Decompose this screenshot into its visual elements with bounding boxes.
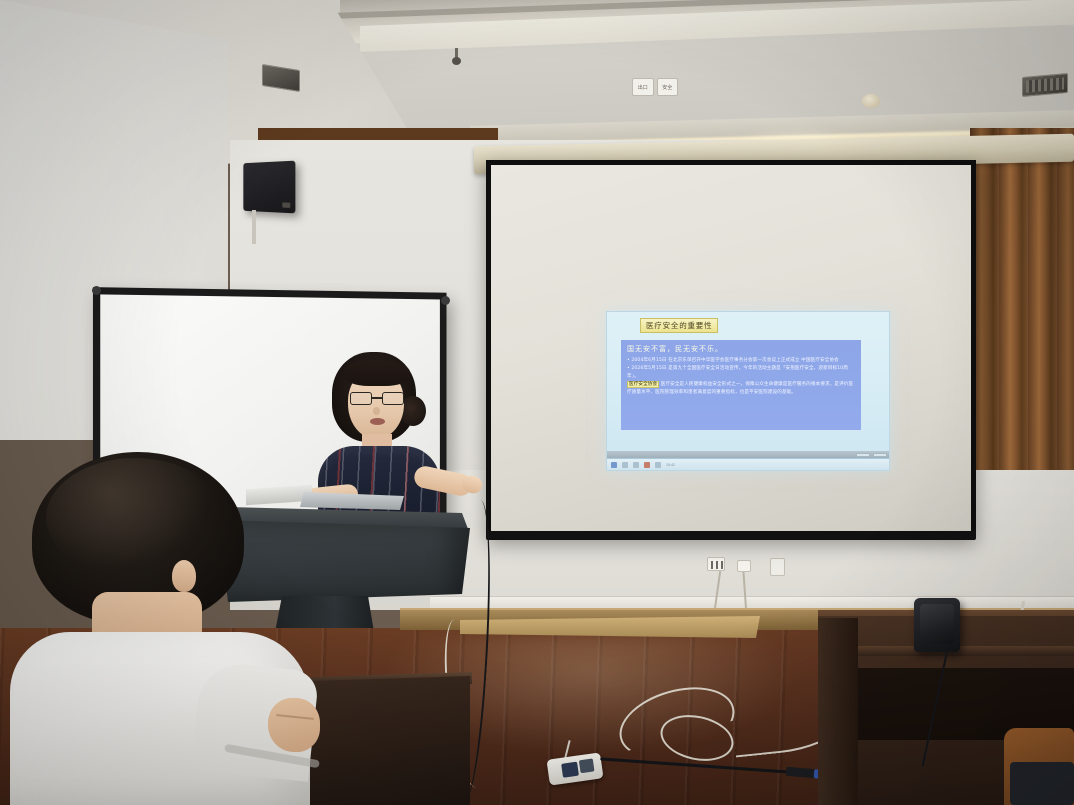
chair-seat[interactable] [1010, 762, 1074, 805]
desk-speaker-icon [914, 598, 960, 652]
slide-status-bar [607, 451, 890, 458]
student-hair-highlight [46, 458, 224, 578]
slide-bullet: • 2026年5月15日 是第九个全国医疗安全日活动宣传，今年的活动主题是「安抱… [627, 365, 855, 381]
ceiling-vent-right-icon [1022, 73, 1068, 97]
exit-sign-label: 出口 [632, 78, 654, 96]
status-cell [873, 453, 887, 457]
taskbar-clock: 15:42 [666, 463, 675, 467]
sprinkler-icon [452, 48, 461, 66]
audience-member [10, 452, 340, 805]
start-button-icon[interactable] [611, 462, 617, 468]
explorer-icon[interactable] [622, 462, 628, 468]
slide-title: 医疗安全的重要性 [640, 318, 718, 333]
wall-speaker-icon [243, 161, 295, 214]
presenter-nose [373, 407, 380, 415]
student-hand [268, 698, 320, 752]
folder-icon[interactable] [655, 462, 661, 468]
glasses-icon [350, 392, 404, 405]
ceiling-signage: 出口 安全 [632, 78, 678, 96]
status-cell [856, 453, 870, 457]
plug-icon-2 [579, 758, 595, 773]
powerpoint-icon[interactable] [644, 462, 650, 468]
slide-highlight: 医疗安全协会 [627, 381, 659, 388]
wall-panel [770, 558, 785, 576]
projected-slide: 医疗安全的重要性 国无安不富，民无安不乐。 • 2004年6月15日 在北京东单… [606, 311, 890, 471]
power-outlet [707, 557, 725, 571]
os-taskbar[interactable]: 15:42 [607, 458, 890, 470]
screen-bottom-weight-bar [486, 531, 976, 540]
slide-heading: 国无安不富，民无安不乐。 [627, 344, 855, 354]
browser-icon[interactable] [633, 462, 639, 468]
lecture-room-photo: 出口 安全 医疗安全的重要性 国无安不富，民无安不乐。 • 2004年6月15日… [0, 0, 1074, 805]
safety-sign-label: 安全 [657, 78, 679, 96]
slide-bullet: • 2004年6月15日 在北京东单召开中华医学会医疗事务分会第一次会议上正式成… [627, 357, 855, 365]
presenter-mouth [370, 418, 385, 425]
plug-icon [561, 762, 579, 778]
whiteboard-mount-right [441, 296, 450, 305]
desk-right-side-panel [818, 618, 858, 805]
presenter-fringe [344, 360, 410, 386]
student-ear [172, 560, 196, 592]
whiteboard-mount-left [92, 286, 101, 295]
speaker-mount [252, 210, 256, 244]
slide-bullet: 医疗安全协会 医疗安全是人民健康权益安全形式之一，保障公众生命健康是医疗服务的根… [627, 381, 855, 397]
slide-body-panel: 国无安不富，民无安不乐。 • 2004年6月15日 在北京东单召开中华医学会医疗… [621, 340, 861, 430]
network-outlet [737, 560, 751, 572]
smoke-detector-icon [862, 94, 880, 108]
